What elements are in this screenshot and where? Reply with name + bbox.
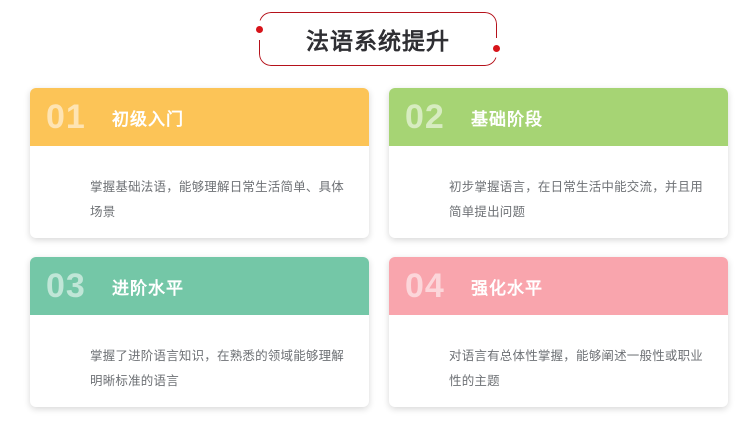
level-card-grid: 01 初级入门 掌握基础法语，能够理解日常生活简单、具体场景 02 基础阶段 初… [30,88,728,407]
card-header-03: 03 进阶水平 [30,257,369,315]
card-description-04: 对语言有总体性掌握，能够阐述一般性或职业性的主题 [449,344,704,394]
card-body-04: 对语言有总体性掌握，能够阐述一般性或职业性的主题 [389,315,728,407]
card-description-03: 掌握了进阶语言知识，在熟悉的领域能够理解明晰标准的语言 [90,344,345,394]
page-title: 法语系统提升 [306,22,450,56]
card-body-02: 初步掌握语言，在日常生活中能交流，并且用简单提出问题 [389,146,728,238]
card-body-01: 掌握基础法语，能够理解日常生活简单、具体场景 [30,146,369,238]
title-decorative-frame: 法语系统提升 [259,12,497,66]
card-title-02: 基础阶段 [471,105,543,130]
card-header-02: 02 基础阶段 [389,88,728,146]
level-card-03[interactable]: 03 进阶水平 掌握了进阶语言知识，在熟悉的领域能够理解明晰标准的语言 [30,257,369,407]
card-number-01: 01 [46,100,108,134]
level-card-04[interactable]: 04 强化水平 对语言有总体性掌握，能够阐述一般性或职业性的主题 [389,257,728,407]
card-title-03: 进阶水平 [112,274,184,299]
accent-dot-right-icon [493,45,500,52]
level-card-01[interactable]: 01 初级入门 掌握基础法语，能够理解日常生活简单、具体场景 [30,88,369,238]
card-title-01: 初级入门 [112,105,184,130]
card-number-03: 03 [46,269,108,303]
level-card-02[interactable]: 02 基础阶段 初步掌握语言，在日常生活中能交流，并且用简单提出问题 [389,88,728,238]
card-number-02: 02 [405,100,467,134]
card-description-02: 初步掌握语言，在日常生活中能交流，并且用简单提出问题 [449,175,704,225]
card-description-01: 掌握基础法语，能够理解日常生活简单、具体场景 [90,175,345,225]
page-header: 法语系统提升 [0,0,756,78]
card-number-04: 04 [405,269,467,303]
card-body-03: 掌握了进阶语言知识，在熟悉的领域能够理解明晰标准的语言 [30,315,369,407]
card-title-04: 强化水平 [471,274,543,299]
card-header-01: 01 初级入门 [30,88,369,146]
accent-dot-left-icon [256,26,263,33]
card-header-04: 04 强化水平 [389,257,728,315]
